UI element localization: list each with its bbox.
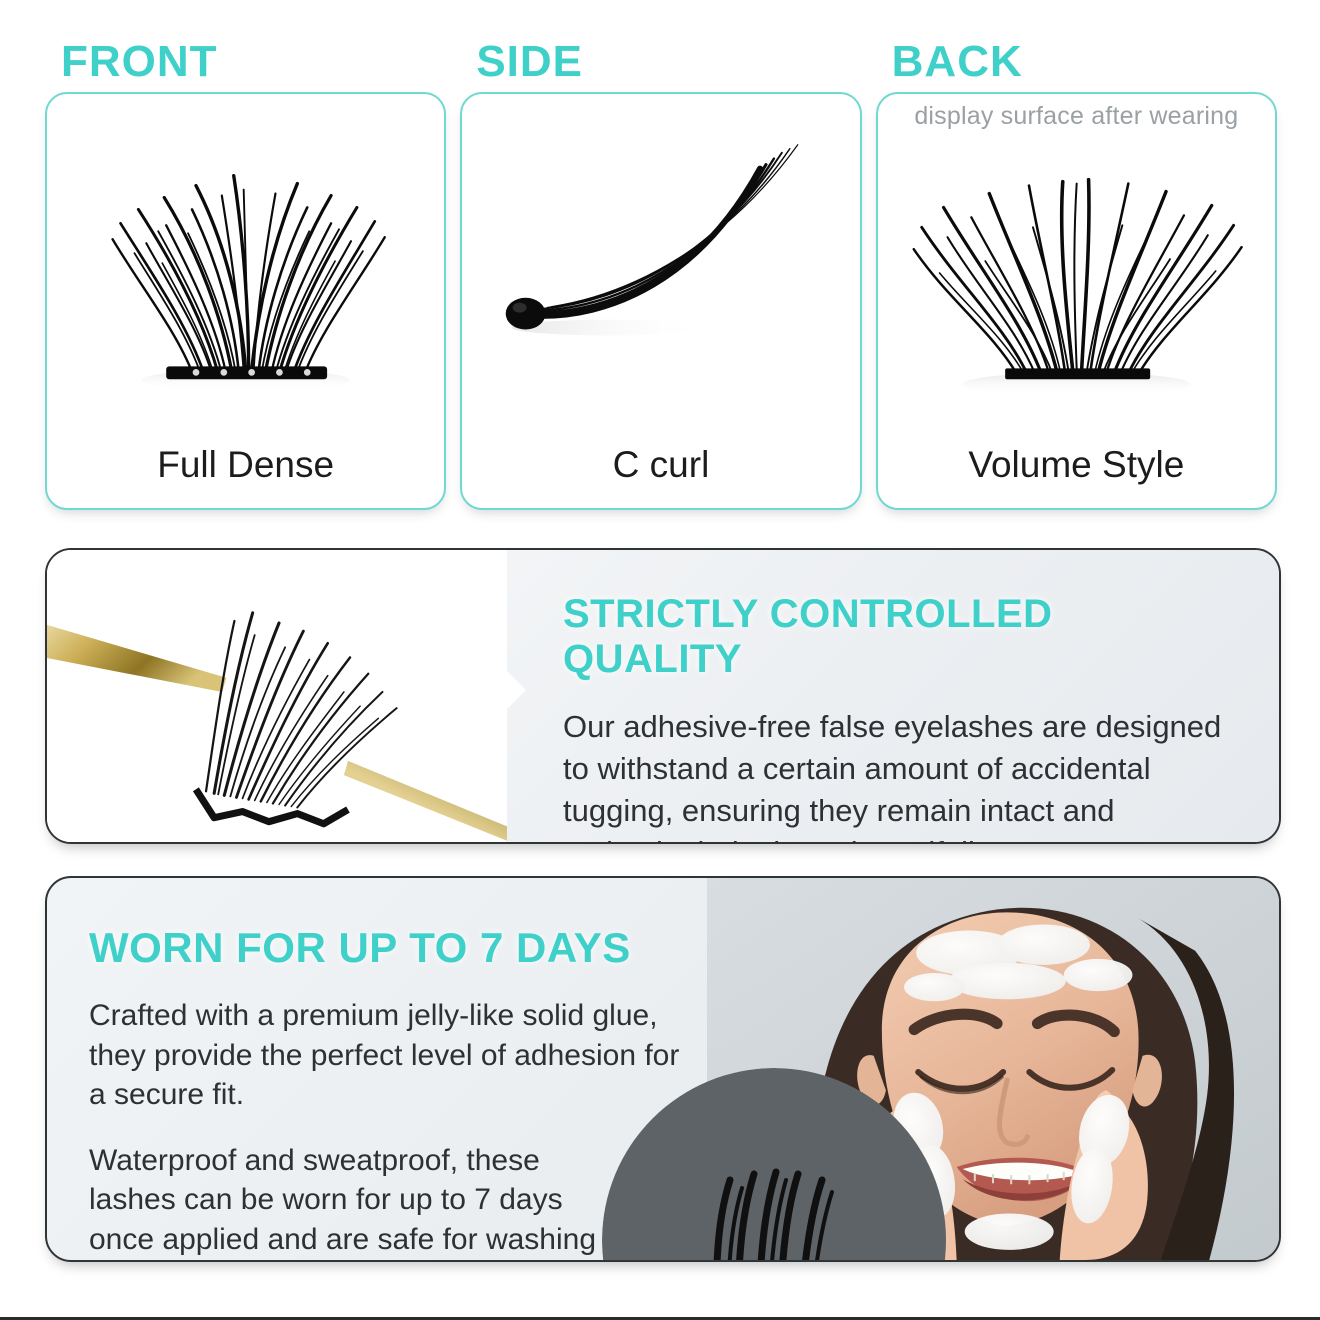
worn-panel: WORN FOR UP TO 7 DAYS Crafted with a pre…	[45, 876, 1281, 1262]
view-caption-back: Volume Style	[878, 422, 1275, 508]
view-card-back[interactable]: display surface after wearing	[876, 92, 1277, 510]
quality-body: Our adhesive-free false eyelashes are de…	[563, 706, 1235, 844]
view-card-front[interactable]: Full Dense	[45, 92, 446, 510]
lash-front-illustration	[47, 94, 444, 422]
worn-paragraph-2: Waterproof and sweatproof, these lashes …	[89, 1141, 599, 1262]
worn-text-block: WORN FOR UP TO 7 DAYS Crafted with a pre…	[47, 878, 707, 1260]
view-back: BACK display surface after wearing	[876, 40, 1277, 510]
view-heading-side: SIDE	[460, 40, 861, 92]
worn-title: WORN FOR UP TO 7 DAYS	[89, 924, 681, 972]
lash-back-illustration	[878, 94, 1275, 422]
view-card-side[interactable]: C curl	[460, 92, 861, 510]
view-caption-side: C curl	[462, 422, 859, 508]
views-row: FRONT	[45, 40, 1277, 510]
quality-panel: STRICTLY CONTROLLED QUALITY Our adhesive…	[45, 548, 1281, 844]
lash-side-illustration	[462, 94, 859, 422]
view-front: FRONT	[45, 40, 446, 510]
product-infographic: FRONT	[0, 0, 1320, 1320]
view-heading-back: BACK	[876, 40, 1277, 92]
quality-tweezer-image	[47, 550, 507, 842]
quality-text-block: STRICTLY CONTROLLED QUALITY Our adhesive…	[507, 550, 1279, 842]
view-caption-front: Full Dense	[47, 422, 444, 508]
worn-paragraph-1: Crafted with a premium jelly-like solid …	[89, 996, 681, 1115]
quality-title: STRICTLY CONTROLLED QUALITY	[563, 592, 1235, 682]
view-heading-front: FRONT	[45, 40, 446, 92]
view-side: SIDE	[460, 40, 861, 510]
